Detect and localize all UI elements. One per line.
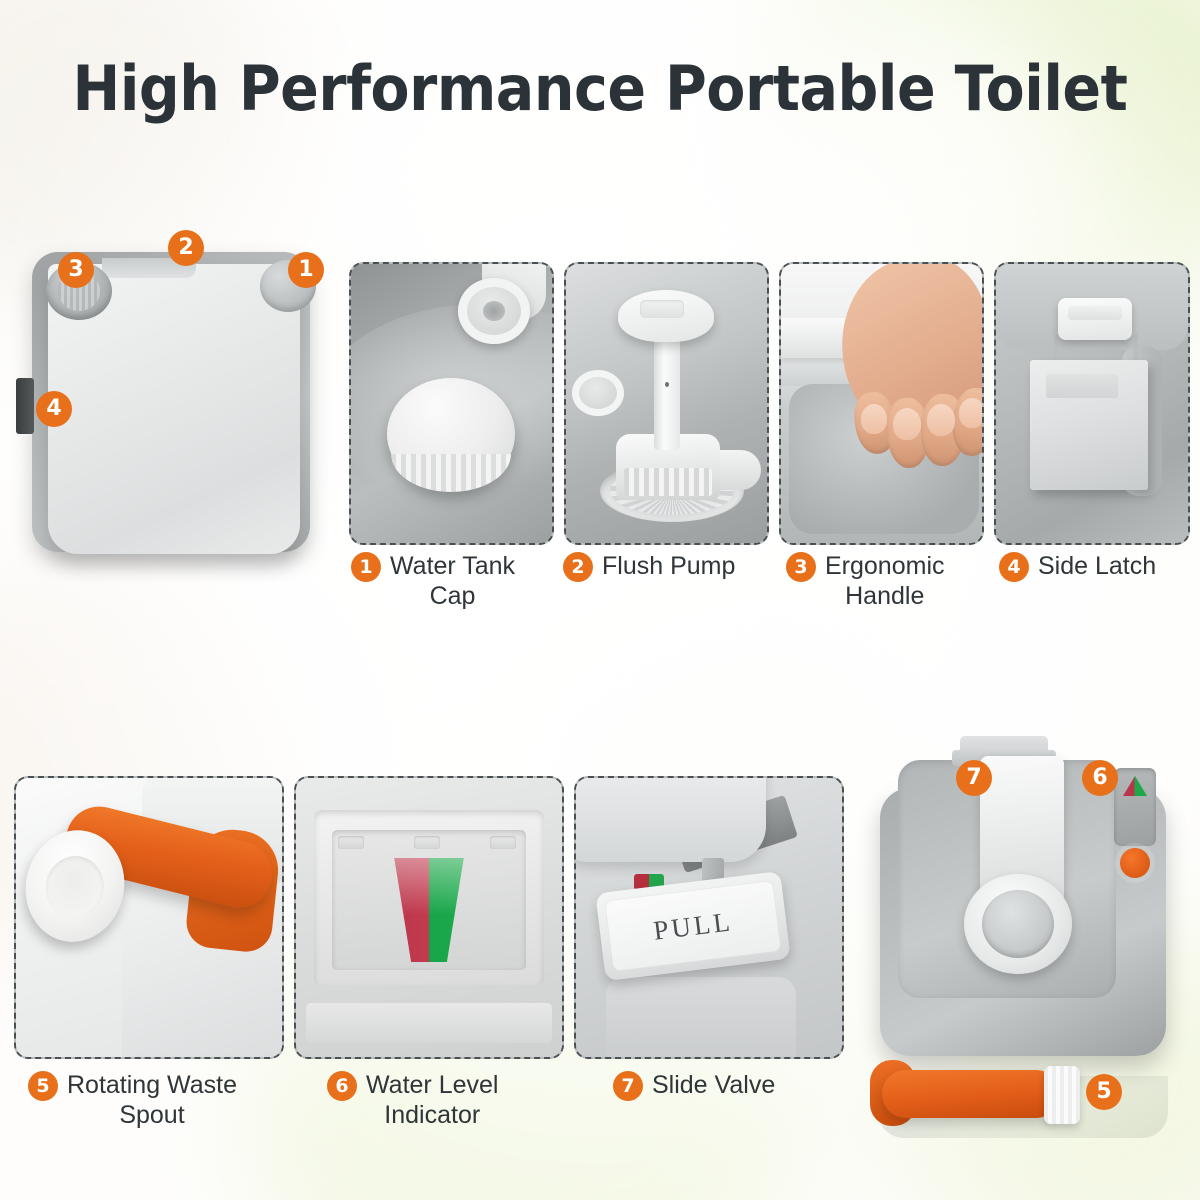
ergonomic-handle-photo <box>781 264 982 543</box>
water-level-indicator-photo <box>296 778 562 1057</box>
pump-shaft <box>654 334 680 450</box>
latch-clamp <box>1058 298 1132 340</box>
caption-badge-7: 7 <box>613 1071 643 1101</box>
caption-water-level-indicator: 6 Water Level Indicator <box>327 1070 527 1130</box>
detail-panel-rotating-waste-spout <box>14 776 284 1059</box>
caption-badge-6: 6 <box>327 1071 357 1101</box>
detail-panel-slide-valve: PULL <box>574 776 844 1059</box>
caption-line-2: Cap <box>390 581 515 611</box>
caption-line-1: Slide Valve <box>652 1070 775 1100</box>
fingernail <box>959 398 984 428</box>
rotating-waste-spout-photo <box>16 778 282 1057</box>
caption-text-1: Water Tank Cap <box>390 551 515 611</box>
caption-badge-4: 4 <box>999 552 1029 582</box>
latch-plate <box>1030 360 1148 490</box>
water-tank-cap-photo <box>351 264 552 543</box>
detail-panel-water-level-indicator <box>294 776 564 1059</box>
caption-line-1: Water Tank <box>390 551 515 581</box>
indicator-tick <box>414 836 440 849</box>
indicator-tick <box>338 836 364 849</box>
fingernail <box>893 408 921 440</box>
secondary-badge-7: 7 <box>956 760 992 796</box>
side-latch-tab <box>16 378 34 434</box>
tank-upper-body <box>574 776 766 862</box>
detail-panel-water-tank-cap <box>349 262 554 545</box>
caption-line-1: Ergonomic <box>825 551 945 581</box>
caption-badge-5: 5 <box>28 1071 58 1101</box>
flush-pump-photo <box>566 264 767 543</box>
slide-valve-photo: PULL <box>576 778 842 1057</box>
main-product-image: 3 2 1 4 <box>10 228 340 588</box>
caption-text-5: Rotating Waste Spout <box>67 1070 237 1130</box>
caption-line-1: Rotating Waste <box>67 1070 237 1100</box>
caption-line-2: Indicator <box>366 1100 498 1130</box>
indicator-tick <box>490 836 516 849</box>
pump-knob <box>618 290 714 342</box>
caption-text-2: Flush Pump <box>602 551 735 581</box>
side-port <box>572 370 624 416</box>
side-latch-photo <box>996 264 1188 543</box>
spout-cap <box>1044 1066 1080 1124</box>
caption-badge-1: 1 <box>351 552 381 582</box>
caption-line-1: Water Level <box>366 1070 498 1100</box>
main-badge-2: 2 <box>168 230 204 266</box>
waste-spout <box>882 1070 1060 1118</box>
caption-line-2: Handle <box>825 581 945 611</box>
main-badge-3: 3 <box>58 252 94 288</box>
caption-line-1: Flush Pump <box>602 551 735 581</box>
fill-spout <box>458 278 530 344</box>
caption-text-3: Ergonomic Handle <box>825 551 945 611</box>
housing-base <box>306 1003 552 1043</box>
page-title: High Performance Portable Toilet <box>48 52 1152 125</box>
caption-water-tank-cap: 1 Water Tank Cap <box>351 551 541 611</box>
caption-badge-2: 2 <box>563 552 593 582</box>
tank-lower-body <box>606 977 796 1059</box>
water-tank-cap <box>387 378 515 490</box>
tank-port <box>964 874 1072 974</box>
detail-panel-flush-pump <box>564 262 769 545</box>
secondary-badge-6: 6 <box>1082 760 1118 796</box>
caption-line-1: Side Latch <box>1038 551 1156 581</box>
detail-panel-side-latch <box>994 262 1190 545</box>
caption-flush-pump: 2 Flush Pump <box>563 551 758 582</box>
detail-panel-ergonomic-handle <box>779 262 984 545</box>
caption-text-7: Slide Valve <box>652 1070 775 1100</box>
caption-slide-valve: 7 Slide Valve <box>613 1070 813 1101</box>
fingernail <box>861 404 887 434</box>
pressure-release-button <box>1120 848 1150 878</box>
caption-ergonomic-handle: 3 Ergonomic Handle <box>786 551 976 611</box>
caption-text-4: Side Latch <box>1038 551 1156 581</box>
secondary-product-image: 7 6 5 <box>864 744 1184 1144</box>
secondary-badge-5: 5 <box>1086 1074 1122 1110</box>
caption-rotating-waste-spout: 5 Rotating Waste Spout <box>28 1070 258 1130</box>
fingernail <box>927 404 955 436</box>
main-badge-4: 4 <box>36 391 72 427</box>
caption-side-latch: 4 Side Latch <box>999 551 1189 582</box>
caption-line-2: Spout <box>67 1100 237 1130</box>
water-level-gauge <box>1114 768 1156 846</box>
main-badge-1: 1 <box>288 252 324 288</box>
caption-text-6: Water Level Indicator <box>366 1070 498 1130</box>
waste-tank-illustration <box>864 744 1184 1144</box>
caption-badge-3: 3 <box>786 552 816 582</box>
